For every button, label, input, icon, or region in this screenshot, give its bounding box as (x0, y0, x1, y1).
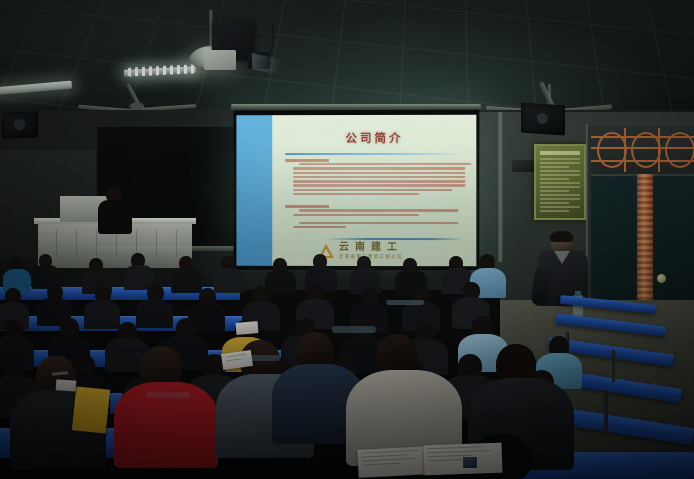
company-logo: 云南建工 云南省第三建筑工程公司 (318, 241, 470, 261)
yellow-folder (72, 386, 110, 433)
desk-reflection (146, 392, 190, 398)
window-mullion (637, 174, 653, 312)
wall-notice-board (534, 144, 586, 220)
attached-photo (462, 456, 478, 469)
projection-screen: 公司简介 (233, 110, 479, 271)
slide-title: 公司简介 (283, 130, 466, 146)
person-standing-at-front (96, 186, 134, 232)
desk-reflection (332, 326, 376, 333)
slide-section-heading-1 (285, 159, 329, 162)
wall-speaker-left (2, 111, 38, 139)
lecture-hall-photo: 公司简介 (0, 0, 694, 479)
slide-title-rule (285, 153, 462, 155)
window-with-decorative-grille (588, 126, 694, 312)
desk-reflection (240, 355, 280, 361)
company-logo-name: 云南建工 (339, 243, 403, 253)
wall-plaque (512, 160, 534, 172)
slide-section-heading-2 (285, 205, 329, 208)
projector-mount (204, 50, 236, 70)
handout-papers (56, 379, 77, 391)
wall-speaker-right (521, 102, 565, 135)
desk-reflection (386, 300, 424, 305)
handout-papers (357, 446, 430, 478)
window-transom (591, 126, 694, 176)
slide-content: 公司简介 (272, 115, 476, 266)
window-handle (657, 274, 666, 283)
powerpoint-slide: 公司简介 (236, 115, 476, 266)
slide-accent-band (236, 115, 272, 266)
wall-pipe (498, 112, 503, 262)
company-logo-subtitle: 云南省第三建筑工程公司 (339, 255, 403, 260)
handout-papers (236, 321, 259, 335)
slide-footer-rule (326, 238, 464, 240)
